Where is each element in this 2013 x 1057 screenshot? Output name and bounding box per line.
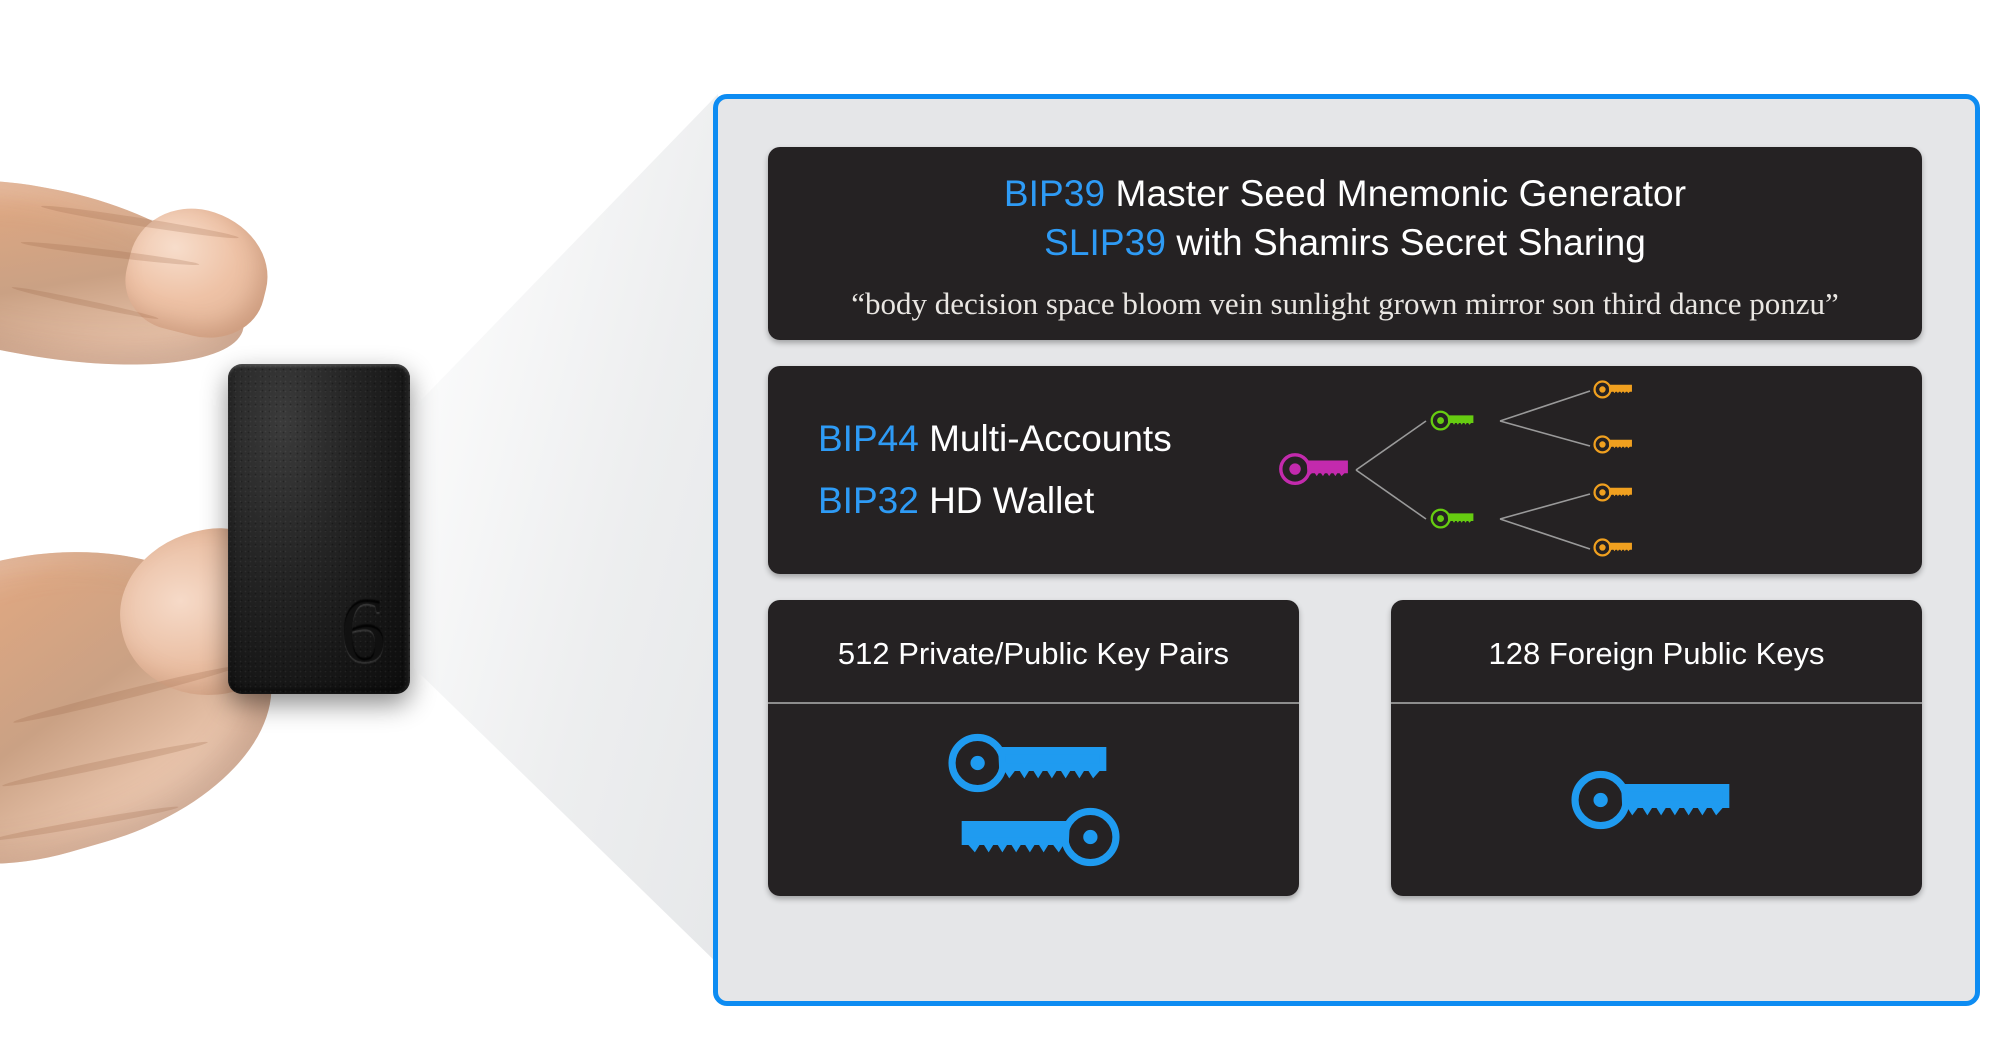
mnemonic-phrase: “body decision space bloom vein sunlight… bbox=[794, 285, 1896, 323]
level1-key-icon bbox=[1432, 510, 1473, 528]
private-public-keys-panel: 512 Private/Public Key Pairs bbox=[768, 600, 1299, 896]
bip44-label: BIP44 bbox=[818, 418, 919, 459]
level2-key-icon bbox=[1595, 382, 1631, 398]
foreign-public-keys-panel: 128 Foreign Public Keys bbox=[1391, 600, 1922, 896]
seed-generator-panel: BIP39 Master Seed Mnemonic Generator SLI… bbox=[768, 147, 1922, 340]
seed-title-line-2-text: with Shamirs Secret Sharing bbox=[1166, 222, 1646, 263]
level2-key-icon bbox=[1595, 437, 1631, 453]
hd-wallet-panel: BIP44 Multi-Accounts BIP32 HD Wallet bbox=[768, 366, 1922, 574]
feature-card: BIP39 Master Seed Mnemonic Generator SLI… bbox=[713, 94, 1980, 1006]
level2-key-icon bbox=[1595, 540, 1631, 556]
hd-title-line-1-text: Multi-Accounts bbox=[919, 418, 1172, 459]
root-key-icon bbox=[1281, 455, 1346, 484]
key-right-icon bbox=[1568, 767, 1746, 833]
foreign-public-keys-icons bbox=[1391, 704, 1922, 896]
product-photo: 6 bbox=[0, 0, 470, 1057]
hd-title-line-2: BIP32 HD Wallet bbox=[818, 470, 1238, 532]
key-derivation-tree-svg bbox=[1238, 366, 1878, 574]
hd-title-line-1: BIP44 Multi-Accounts bbox=[818, 408, 1238, 470]
hd-wallet-labels: BIP44 Multi-Accounts BIP32 HD Wallet bbox=[768, 408, 1238, 532]
tree-connector-lines bbox=[1356, 391, 1590, 549]
seed-title-line-1-text: Master Seed Mnemonic Generator bbox=[1105, 173, 1686, 214]
key-summary-panels: 512 Private/Public Key Pairs bbox=[768, 600, 1922, 896]
bip39-label: BIP39 bbox=[1004, 173, 1105, 214]
hd-title-line-2-text: HD Wallet bbox=[919, 480, 1094, 521]
seed-title-line-1: BIP39 Master Seed Mnemonic Generator bbox=[794, 169, 1896, 218]
private-public-keys-icons bbox=[768, 704, 1299, 896]
level2-key-icon bbox=[1595, 485, 1631, 501]
slip39-label: SLIP39 bbox=[1044, 222, 1166, 263]
private-public-keys-title: 512 Private/Public Key Pairs bbox=[768, 600, 1299, 704]
key-right-icon bbox=[945, 730, 1123, 796]
hardware-wallet-device: 6 bbox=[228, 364, 410, 694]
key-derivation-tree bbox=[1238, 366, 1922, 574]
seed-title-line-2: SLIP39 with Shamirs Secret Sharing bbox=[794, 218, 1896, 267]
device-digit: 6 bbox=[340, 584, 386, 676]
key-left-icon bbox=[945, 804, 1123, 870]
level1-key-icon bbox=[1432, 412, 1473, 430]
bip32-label: BIP32 bbox=[818, 480, 919, 521]
foreign-public-keys-title: 128 Foreign Public Keys bbox=[1391, 600, 1922, 704]
